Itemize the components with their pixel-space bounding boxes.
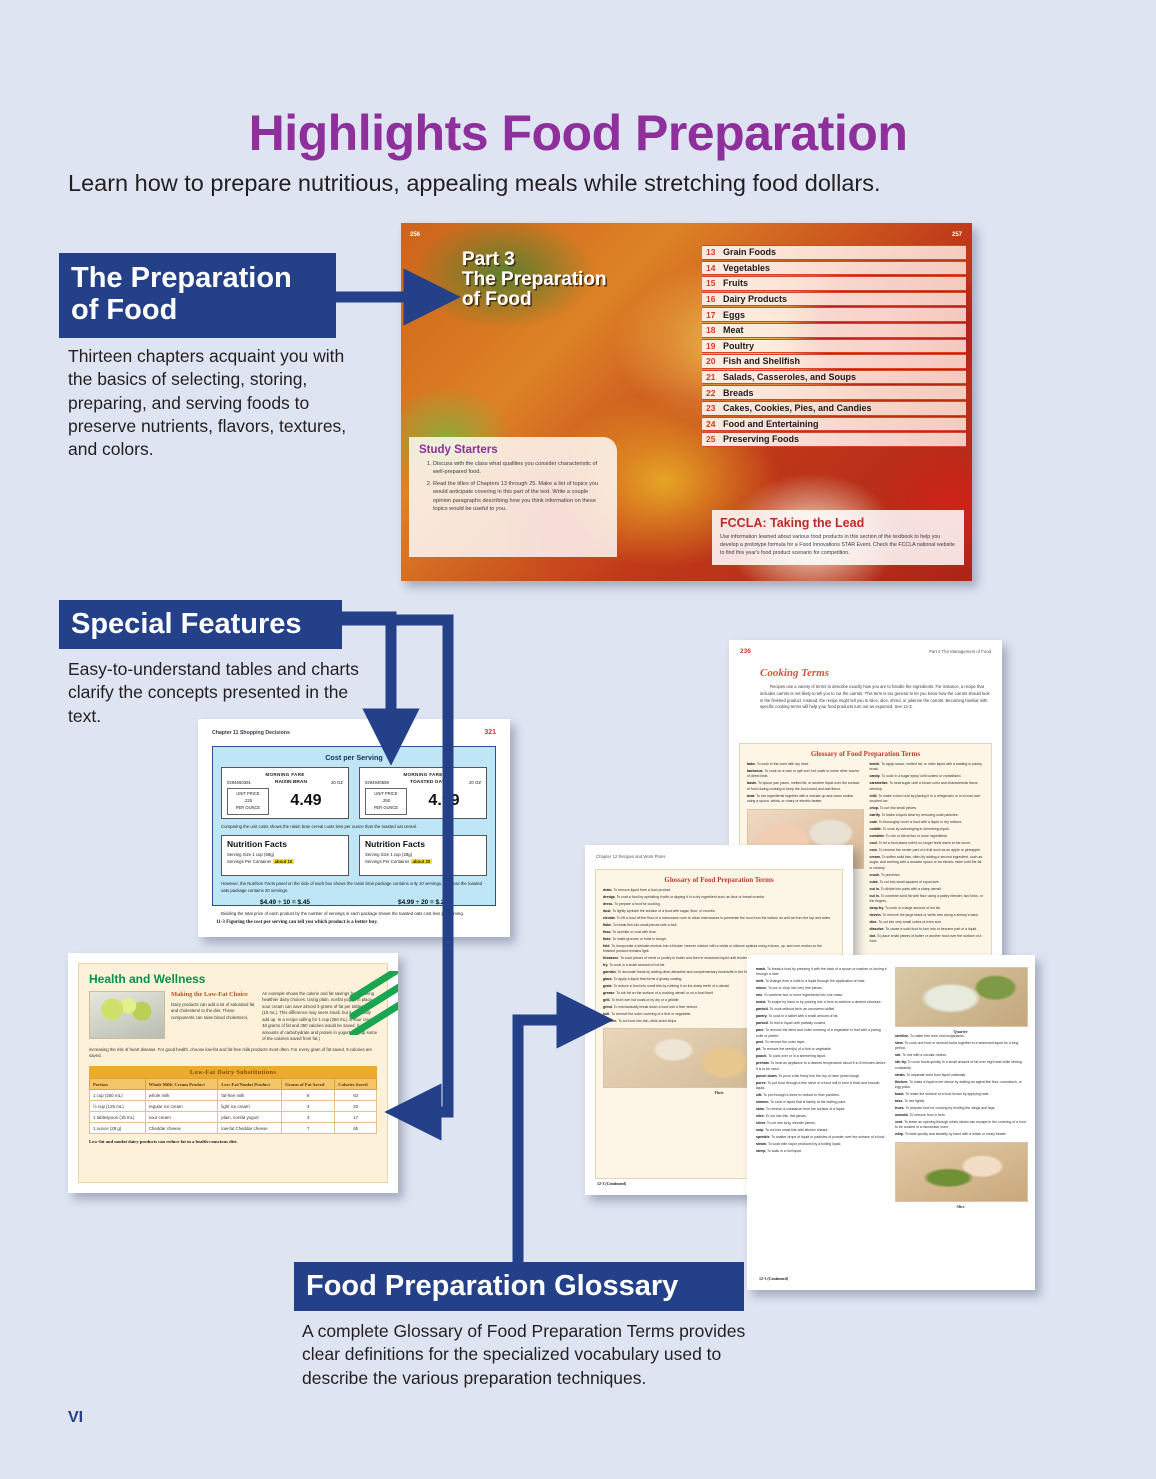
chapter-number: 25 bbox=[706, 434, 719, 444]
table-row: 1 tablespoon (15 mL)sour creamplain, non… bbox=[90, 1112, 377, 1123]
glossary-definition: cool. To let a food stand until it no lo… bbox=[870, 841, 985, 846]
page-subtitle: Learn how to prepare nutritious, appeali… bbox=[68, 170, 1088, 197]
cooking-terms-intro: Recipes use a variety of terms to descri… bbox=[760, 684, 990, 711]
glossary-right-col-left: mash. To break a food by pressing it wit… bbox=[756, 967, 887, 1209]
glossary-definition: sprinkle. To scatter drops of liquid or … bbox=[756, 1135, 887, 1140]
table-header-cell: Portion bbox=[90, 1079, 146, 1090]
glossary-definition: strain. To separate solid from liquid ma… bbox=[895, 1073, 1026, 1078]
cost-nutrition-panels: Nutrition FactsServing Size 1 cup (59g)S… bbox=[221, 835, 487, 876]
glossary-right-page: mash. To break a food by pressing it wit… bbox=[747, 955, 1035, 1290]
cost-per-serving-page-shot: Chapter 11 Shopping Decisions 321 Cost p… bbox=[198, 719, 510, 937]
glossary-definition: poach. To cook over or in a simmering li… bbox=[756, 1054, 887, 1059]
chapter-number: 14 bbox=[706, 263, 719, 273]
glossary-definition: beat. To mix ingredients together with a… bbox=[747, 794, 862, 805]
chapter-number: 22 bbox=[706, 388, 719, 398]
table-header-cell: Grams of Fat Saved bbox=[282, 1079, 335, 1090]
chapter-name: Dairy Products bbox=[723, 294, 787, 304]
dairy-photo bbox=[89, 991, 165, 1039]
glossary-definition: pare. To remove the stem and outer cover… bbox=[756, 1028, 887, 1039]
health-wellness-page-shot: Health and Wellness Making the Low-Fat C… bbox=[68, 953, 398, 1193]
glossary-definition: dot. To place small pieces of butter or … bbox=[870, 934, 985, 945]
glossary-definition: dress. To prepare a food for cooking. bbox=[603, 902, 835, 907]
chapter-name: Poultry bbox=[723, 341, 754, 351]
table-body: 1 cup (250 mL)whole milkfat-free milk863… bbox=[90, 1090, 377, 1134]
spread-page-right: 257 bbox=[952, 232, 962, 238]
table-cell: fat-free milk bbox=[218, 1090, 282, 1101]
glossary-definition: vent. To leave an opening through which … bbox=[895, 1120, 1026, 1131]
glossary-left-title: Glossary of Food Preparation Terms bbox=[603, 876, 835, 884]
health-wellness-col1-wrap: Making the Low-Fat Choice Dairy products… bbox=[171, 991, 256, 1043]
chapter-row: 15Fruits bbox=[702, 276, 966, 291]
page-folio: VI bbox=[68, 1409, 83, 1427]
study-starters-box: Study Starters Discuss with the class wh… bbox=[409, 437, 617, 557]
glossary-definition: melt. To change from a solid to a liquid… bbox=[756, 979, 887, 984]
slice-photo bbox=[895, 1142, 1028, 1202]
quarter-photo bbox=[895, 967, 1028, 1027]
glossary-definition: cut in. To divide into parts with a shar… bbox=[870, 887, 985, 892]
glossary-definition: pit. To remove the seed(s) of a fruit or… bbox=[756, 1047, 887, 1052]
glossary-definition: steep. To soak in a hot liquid. bbox=[756, 1149, 887, 1154]
glossary-definition: caramelize. To heat sugar until a brown … bbox=[870, 781, 985, 792]
table-header-cell: Whole Milk/ Cream Product bbox=[145, 1079, 218, 1090]
glossary-definition: dice. To cut into very small cubes of ev… bbox=[870, 920, 985, 925]
highlights-page: Highlights Food Preparation Learn how to… bbox=[0, 0, 1156, 1479]
spread-page-left: 256 bbox=[410, 232, 420, 238]
table-cell: 8 bbox=[282, 1090, 335, 1101]
glossary-col-right: brush. To apply sauce, melted fat, or ot… bbox=[870, 762, 985, 946]
glossary-definition: truss. To prepare fowl for cooking by bi… bbox=[895, 1106, 1026, 1111]
glossary-definition: mince. To cut or chop into very fine pie… bbox=[756, 986, 887, 991]
glossary-definition: mix. To combine two or more ingredients … bbox=[756, 993, 887, 998]
glossary-definition: stew. To cook one food or several foods … bbox=[895, 1041, 1026, 1052]
chapter-name: Cakes, Cookies, Pies, and Candies bbox=[723, 403, 872, 413]
glossary-definition: mash. To break a food by pressing it wit… bbox=[756, 967, 887, 978]
cooking-terms-heading: Cooking Terms bbox=[760, 667, 829, 679]
health-wellness-title: Health and Wellness bbox=[89, 972, 377, 986]
glossary-definition: puree. To put food through a fine sieve … bbox=[756, 1081, 887, 1092]
chapter-row: 21Salads, Casseroles, and Soups bbox=[702, 370, 966, 385]
part-title-line2: of Food bbox=[462, 290, 607, 310]
chapter-name: Food and Entertaining bbox=[723, 419, 819, 429]
cost-caption: 11-3 Figuring the cost per serving can t… bbox=[216, 920, 378, 925]
chapter-number: 19 bbox=[706, 341, 719, 351]
nutrition-facts-panel: Nutrition FactsServing Size 1 cup (28g)S… bbox=[359, 835, 487, 876]
cooking-page-number: 236 bbox=[740, 648, 751, 655]
glossary-right-defs-right: sterilize. To make free from microorgani… bbox=[895, 1034, 1026, 1138]
glossary-definition: deep-fry. To cook in a large amount of h… bbox=[870, 906, 985, 911]
section-blurb-preparation: Thirteen chapters acquaint you with the … bbox=[68, 345, 348, 461]
cost-running-head: Chapter 11 Shopping Decisions bbox=[212, 730, 290, 736]
table-header-row: PortionWhole Milk/ Cream ProductLow-Fat/… bbox=[90, 1079, 377, 1090]
section-blurb-food-prep-glossary: A complete Glossary of Food Preparation … bbox=[302, 1320, 752, 1390]
cost-note-mid: However, the Nutrition Facts panel on th… bbox=[221, 881, 487, 894]
slice-photo-caption: Slice bbox=[895, 1204, 1026, 1209]
chapter-number: 18 bbox=[706, 325, 719, 335]
chapter-number: 20 bbox=[706, 356, 719, 366]
glossary-right-figure-caption: 12-3 (Continued) bbox=[759, 1276, 788, 1281]
glossary-continued-right-shot: mash. To break a food by pressing it wit… bbox=[747, 955, 1035, 1290]
table-row: 1 ounce (28 g)Cheddar cheeselow-fat Ched… bbox=[90, 1123, 377, 1134]
glossary-definition: drain. To remove liquid from a food prod… bbox=[603, 888, 835, 893]
chapter-row: 19Poultry bbox=[702, 339, 966, 354]
glossary-left-figure-caption: 12-3 (Continued) bbox=[597, 1181, 626, 1186]
table-cell: 4 bbox=[282, 1101, 335, 1112]
glossary-definition: brush. To apply sauce, melted fat, or ot… bbox=[870, 762, 985, 773]
glossary-definition: candy. To cook in a sugar syrup until co… bbox=[870, 774, 985, 779]
table-cell: 63 bbox=[335, 1090, 377, 1101]
glossary-definition: sterilize. To make free from microorgani… bbox=[895, 1034, 1026, 1039]
glossary-definition: devein. To remove the large black or whi… bbox=[870, 913, 985, 918]
study-starter-item: Discuss with the class what qualities yo… bbox=[433, 460, 607, 477]
chapter-number: 24 bbox=[706, 419, 719, 429]
chapter-row: 22Breads bbox=[702, 385, 966, 400]
health-wellness-wide-text: increasing the risk of heart disease. Fo… bbox=[89, 1047, 377, 1060]
health-wellness-col1: Dairy products can add a lot of saturate… bbox=[171, 1002, 256, 1021]
glossary-defs-right: brush. To apply sauce, melted fat, or ot… bbox=[870, 762, 985, 945]
chapter-name: Salads, Casseroles, and Soups bbox=[723, 372, 856, 382]
chapter-row: 17Eggs bbox=[702, 307, 966, 322]
chapter-number: 15 bbox=[706, 278, 719, 288]
glossary-definition: toss. To mix lightly. bbox=[895, 1099, 1026, 1104]
nutrition-facts-panel: Nutrition FactsServing Size 1 cup (59g)S… bbox=[221, 835, 349, 876]
glossary-definition: flour. To sprinkle or coat with flour. bbox=[603, 930, 835, 935]
part-opener-spread: 256 257 Part 3 The Preparation of Food 1… bbox=[401, 223, 972, 581]
chapter-name: Preserving Foods bbox=[723, 434, 799, 444]
section-banner-special-features: Special Features bbox=[59, 600, 342, 649]
table-cell: 17 bbox=[335, 1112, 377, 1123]
price-tag: MORNING FARE0294650391RAISIN BRAN20 OZUN… bbox=[221, 767, 349, 819]
glossary-definition: moist. To shape by hand or by pouring in… bbox=[756, 1000, 887, 1005]
glossary-definition: sift. To put through a sieve to reduce t… bbox=[756, 1093, 887, 1098]
table-cell: whole milk bbox=[145, 1090, 218, 1101]
part-label: Part 3 bbox=[462, 250, 607, 270]
fccla-body: Use information learned about various fo… bbox=[720, 533, 956, 557]
section-banner-preparation: The Preparation of Food bbox=[59, 253, 336, 338]
glossary-definition: combine. To mix or blend two or more ing… bbox=[870, 834, 985, 839]
table-cell: 3 bbox=[282, 1112, 335, 1123]
glossary-definition: preheat. To heat an appliance to a desir… bbox=[756, 1061, 887, 1072]
glossary-definition: whip. To beat quickly and steadily by ha… bbox=[895, 1132, 1026, 1137]
chapter-name: Fish and Shellfish bbox=[723, 356, 800, 366]
chapter-row: 20Fish and Shellfish bbox=[702, 354, 966, 369]
chapter-name: Fruits bbox=[723, 278, 748, 288]
chapter-row: 13Grain Foods bbox=[702, 245, 966, 260]
glossary-definition: dust. To lightly sprinkle the surface of… bbox=[603, 909, 835, 914]
glossary-definition: elevate. To lift a food off the floor of… bbox=[603, 916, 835, 921]
glossary-definition: pantry. To cook in a skillet with a smal… bbox=[756, 1014, 887, 1019]
chapter-row: 18Meat bbox=[702, 323, 966, 338]
glossary-definition: toast. To make the surface of a food bro… bbox=[895, 1092, 1026, 1097]
cost-price-tags: MORNING FARE0294650391RAISIN BRAN20 OZUN… bbox=[221, 767, 487, 819]
table-cell: 7 bbox=[282, 1123, 335, 1134]
chapter-number: 13 bbox=[706, 247, 719, 257]
part-title: Part 3 The Preparation of Food bbox=[462, 250, 607, 310]
glossary-definition: chill. To make a food cold by placing it… bbox=[870, 794, 985, 805]
table-cell: low-fat Cheddar cheese bbox=[218, 1123, 282, 1134]
table-row: 1 cup (250 mL)whole milkfat-free milk863 bbox=[90, 1090, 377, 1101]
chapter-number: 23 bbox=[706, 403, 719, 413]
chapter-row: 23Cakes, Cookies, Pies, and Candies bbox=[702, 401, 966, 416]
glossary-definition: crush. To pulverize. bbox=[870, 873, 985, 878]
chapter-row: 25Preserving Foods bbox=[702, 432, 966, 447]
cost-figure: Cost per Serving MORNING FARE0294650391R… bbox=[212, 746, 496, 906]
glossary-definition: dredge. To coat a food by sprinkling it … bbox=[603, 895, 835, 900]
glossary-right-defs-left: mash. To break a food by pressing it wit… bbox=[756, 967, 887, 1154]
glossary-definition: coat. To thoroughly cover a food with a … bbox=[870, 820, 985, 825]
table-header-cell: Calories Saved bbox=[335, 1079, 377, 1090]
table-cell: 1 cup (250 mL) bbox=[90, 1090, 146, 1101]
fccla-box: FCCLA: Taking the Lead Use information l… bbox=[712, 510, 964, 565]
cost-equation: $4.49 ÷ 10 = $.45 bbox=[221, 899, 349, 906]
table-cell: 1 ounce (28 g) bbox=[90, 1123, 146, 1134]
glossary-definition: slice. To cut into thin, flat pieces. bbox=[756, 1114, 887, 1119]
chapter-number: 21 bbox=[706, 372, 719, 382]
chapter-name: Grain Foods bbox=[723, 247, 776, 257]
glossary-right-col-right: Quarter sterilize. To make free from mic… bbox=[895, 967, 1026, 1209]
green-stripes-decoration bbox=[340, 971, 398, 1035]
low-fat-dairy-table-title: Low-Fat Dairy Substitutions bbox=[89, 1066, 377, 1078]
low-fat-dairy-table: Low-Fat Dairy Substitutions PortionWhole… bbox=[89, 1066, 377, 1134]
chapter-number: 16 bbox=[706, 294, 719, 304]
glossary-definition: simmer. To cook in liquid that is barely… bbox=[756, 1100, 887, 1105]
cost-page-number: 321 bbox=[484, 729, 496, 736]
cooking-running-head: Part 2 The Management of Food bbox=[929, 649, 991, 654]
price-tag: MORNING FARE0294940559TOASTED OATS20 OZU… bbox=[359, 767, 487, 819]
glossary-definition: flute. To make grooves or folds in dough… bbox=[603, 937, 835, 942]
glossary-definition: flake. To break fish into small pieces w… bbox=[603, 923, 835, 928]
glossary-definition: dissolve. To cause a solid food to turn … bbox=[870, 927, 985, 932]
glossary-definition: cream. To soften solid fats, often by ad… bbox=[870, 855, 985, 871]
health-wellness-top: Making the Low-Fat Choice Dairy products… bbox=[89, 991, 377, 1043]
study-starters-list: Discuss with the class what qualities yo… bbox=[419, 460, 607, 513]
glossary-definition: barbecue. To cook on a rack or spit over… bbox=[747, 769, 862, 780]
chapter-name: Meat bbox=[723, 325, 744, 335]
glossary-definition: skim. To remove a substance from the sur… bbox=[756, 1107, 887, 1112]
glossary-definition: stir-fry. To cook foods quickly in a sma… bbox=[895, 1060, 1026, 1071]
glossary-definition: parboil. To cook without fat in an uncov… bbox=[756, 1007, 887, 1012]
glossary-definition: unmold. To remove from a form. bbox=[895, 1113, 1026, 1118]
chapter-number: 17 bbox=[706, 310, 719, 320]
chapter-name: Eggs bbox=[723, 310, 745, 320]
table-cell: light ice cream bbox=[218, 1101, 282, 1112]
table-row: ½ cup (125 mL)regular ice creamlight ice… bbox=[90, 1101, 377, 1112]
glossary-definition: baste. To spoon pan juices, melted fat, … bbox=[747, 781, 862, 792]
table-cell: regular ice cream bbox=[145, 1101, 218, 1112]
table-cell: Cheddar cheese bbox=[145, 1123, 218, 1134]
glossary-left-running-head: Chapter 12 Recipes and Work Plans bbox=[596, 854, 665, 859]
glossary-definition: coddle. To cook by submerging in simmeri… bbox=[870, 827, 985, 832]
cost-note-bottom: Dividing the total price of each product… bbox=[221, 911, 487, 917]
table-cell: 20 bbox=[335, 1101, 377, 1112]
chapter-row: 16Dairy Products bbox=[702, 292, 966, 307]
cost-note-top: Comparing the unit costs shows the raisi… bbox=[221, 824, 487, 830]
glossary-definition: sliver. To cut into long, slender pieces… bbox=[756, 1121, 887, 1126]
table-cell: 65 bbox=[335, 1123, 377, 1134]
table-cell: 1 tablespoon (15 mL) bbox=[90, 1112, 146, 1123]
glossary-definition: punch down. To push a fist firmly into t… bbox=[756, 1074, 887, 1079]
health-wellness-caption: Low-fat and nonfat dairy products can re… bbox=[89, 1139, 377, 1144]
table-cell: plain, nonfat yogurt bbox=[218, 1112, 282, 1123]
study-starters-title: Study Starters bbox=[419, 444, 607, 456]
cost-figure-title: Cost per Serving bbox=[221, 753, 487, 762]
table-cell: ½ cup (125 mL) bbox=[90, 1101, 146, 1112]
cost-equations: $4.49 ÷ 10 = $.45$4.99 ÷ 20 = $.25 bbox=[221, 899, 487, 906]
glossary-definition: cut in. To combine solid fat with flour … bbox=[870, 894, 985, 905]
glossary-definition: core. To remove the center part of a fru… bbox=[870, 848, 985, 853]
table-cell: sour cream bbox=[145, 1112, 218, 1123]
glossary-right-columns: mash. To break a food by pressing it wit… bbox=[756, 967, 1026, 1209]
glossary-definition: fold. To incorporate a delicate mixture … bbox=[603, 944, 835, 955]
chapter-row: 24Food and Entertaining bbox=[702, 417, 966, 432]
glossary-definition: peel. To remove the outer layer. bbox=[756, 1040, 887, 1045]
fccla-title: FCCLA: Taking the Lead bbox=[720, 516, 956, 530]
glossary-box-title: Glossary of Food Preparation Terms bbox=[747, 750, 984, 758]
chapter-name: Vegetables bbox=[723, 263, 770, 273]
health-wellness-subtitle: Making the Low-Fat Choice bbox=[171, 991, 256, 999]
glossary-definition: steam. To cook with vapor produced by a … bbox=[756, 1142, 887, 1147]
glossary-defs-left: bake. To cook in the oven with dry heat.… bbox=[747, 762, 862, 805]
glossary-definition: chop. To cut into small pieces. bbox=[870, 806, 985, 811]
glossary-definition: parboil. To boil in liquid until partial… bbox=[756, 1021, 887, 1026]
section-banner-food-prep-glossary: Food Preparation Glossary bbox=[294, 1262, 744, 1311]
section-blurb-special-features: Easy-to-understand tables and charts cla… bbox=[68, 658, 363, 728]
part-title-line1: The Preparation bbox=[462, 270, 607, 290]
study-starter-item: Read the titles of Chapters 13 through 2… bbox=[433, 480, 607, 514]
page-title: Highlights Food Preparation bbox=[0, 104, 1156, 162]
chapter-name: Breads bbox=[723, 388, 754, 398]
table-header-cell: Low-Fat/Nonfat Product bbox=[218, 1079, 282, 1090]
chapter-row: 14Vegetables bbox=[702, 261, 966, 276]
chapter-list: 13Grain Foods14Vegetables15Fruits16Dairy… bbox=[702, 245, 966, 448]
glossary-definition: snip. To cut into small bits with kitche… bbox=[756, 1128, 887, 1133]
glossary-definition: clarify. To make a liquid clear by remov… bbox=[870, 813, 985, 818]
glossary-definition: bake. To cook in the oven with dry heat. bbox=[747, 762, 862, 767]
cost-equation: $4.99 ÷ 20 = $.25 bbox=[359, 899, 487, 906]
glossary-definition: thicken. To make a liquid more dense by … bbox=[895, 1080, 1026, 1091]
glossary-definition: stir. To mix with a circular motion. bbox=[895, 1053, 1026, 1058]
glossary-definition: cube. To cut into small squares of equal… bbox=[870, 880, 985, 885]
